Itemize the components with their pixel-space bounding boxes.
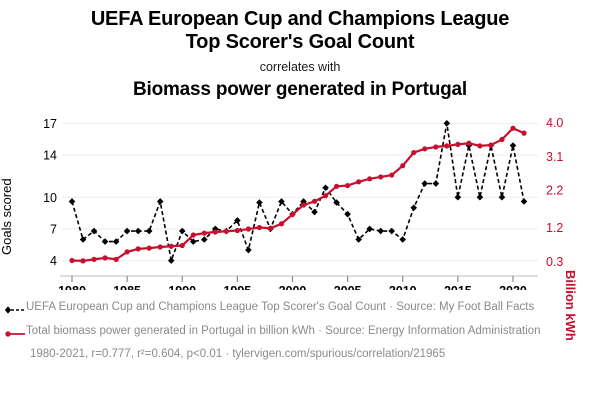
x-tick-label: 1995 [223,284,251,290]
data-point-marker [411,150,416,155]
data-point-marker [521,131,526,136]
data-point-marker [235,228,240,233]
data-point-marker [433,180,440,187]
data-point-marker [246,226,251,231]
data-point-marker [477,194,484,201]
data-point-marker [499,137,504,142]
y-right-tick: 0.3 [546,255,563,269]
series-line-2 [72,128,524,261]
data-point-marker [102,255,107,260]
data-point-marker [389,172,394,177]
y-right-tick: 3.1 [546,150,563,164]
legend-item-goals: UEFA European Cup and Champions League T… [0,300,600,317]
data-point-marker [256,199,263,206]
page-subtitle: Biomass power generated in Portugal [0,78,600,101]
x-tick-label: 1980 [58,284,86,290]
data-point-marker [102,238,109,245]
data-point-marker [169,244,174,249]
correlates-label: correlates with [0,60,600,74]
data-point-marker [147,246,152,251]
x-tick-label: 2015 [444,284,472,290]
chart-footer: UEFA European Cup and Champions League T… [0,300,600,362]
data-point-marker [378,174,383,179]
data-point-marker [224,229,229,234]
data-point-marker [455,194,462,201]
data-point-marker [125,249,130,254]
data-point-marker [201,236,208,243]
data-point-marker [356,179,361,184]
data-point-marker [113,257,118,262]
chart-page: UEFA European Cup and Champions League T… [0,0,600,414]
chart-header: UEFA European Cup and Champions League T… [0,0,600,101]
data-point-marker [202,231,207,236]
data-point-marker [279,221,284,226]
legend-item-biomass: Total biomass power generated in Portuga… [0,324,600,341]
data-point-marker [477,143,482,148]
x-tick-label: 2020 [499,284,527,290]
data-point-marker [334,184,339,189]
data-point-marker [136,246,141,251]
data-point-marker [444,143,449,148]
data-point-marker [257,225,262,230]
x-tick-label: 2000 [279,284,307,290]
title-line-2: Top Scorer's Goal Count [186,31,415,53]
data-point-marker [69,198,76,205]
y-axis-left-title: Goals scored [0,178,14,255]
plot-area: Goals scored Billion kWh 171410744.03.12… [0,105,600,290]
data-point-marker [488,143,493,148]
data-point-marker [158,244,163,249]
y-left-tick: 4 [50,254,57,268]
title-line-1: UEFA European Cup and Champions League [91,8,509,30]
data-point-marker [399,236,406,243]
x-tick-label: 1990 [168,284,196,290]
data-point-marker [521,198,528,205]
y-right-tick: 1.2 [546,221,563,235]
data-point-marker [312,199,317,204]
data-point-marker [344,211,351,218]
data-point-marker [322,184,329,191]
data-point-marker [455,142,460,147]
data-point-marker [345,183,350,188]
x-tick-label: 2010 [389,284,417,290]
data-point-marker [400,163,405,168]
data-point-marker [191,232,196,237]
correlation-line-chart: 171410744.03.12.21.20.319801985199019952… [0,105,600,290]
data-point-marker [245,247,252,254]
data-point-marker [268,226,273,231]
data-point-marker [421,180,428,187]
solid-dot-icon [4,327,26,341]
data-point-marker [466,141,471,146]
data-point-marker [290,212,295,217]
y-left-tick: 14 [43,149,57,163]
data-point-marker [80,258,85,263]
correlation-stats: 1980-2021, r=0.777, r²=0.604, p<0.01 · t… [0,347,600,362]
data-point-marker [367,176,372,181]
data-point-marker [69,258,74,263]
data-point-marker [499,194,506,201]
data-point-marker [510,126,515,131]
data-point-marker [168,257,175,264]
data-point-marker [422,146,427,151]
data-point-marker [311,209,318,216]
data-point-marker [323,193,328,198]
data-point-marker [213,229,218,234]
legend-label-goals: UEFA European Cup and Champions League T… [26,300,534,315]
data-point-marker [433,144,438,149]
x-tick-label: 1985 [113,284,141,290]
x-tick-label: 2005 [334,284,362,290]
data-point-marker [410,205,417,212]
y-right-tick: 2.2 [546,184,563,198]
page-title: UEFA European Cup and Champions League T… [70,8,530,54]
data-point-marker [444,120,451,127]
legend-label-biomass: Total biomass power generated in Portuga… [26,324,541,339]
data-point-marker [180,243,185,248]
dashed-diamond-icon [4,303,26,317]
y-left-tick: 17 [43,117,57,131]
y-left-tick: 10 [43,191,57,205]
y-left-tick: 7 [50,222,57,236]
data-point-marker [157,198,164,205]
data-point-marker [301,202,306,207]
data-point-marker [510,142,517,149]
y-right-tick: 4.0 [546,116,563,130]
data-point-marker [91,257,96,262]
